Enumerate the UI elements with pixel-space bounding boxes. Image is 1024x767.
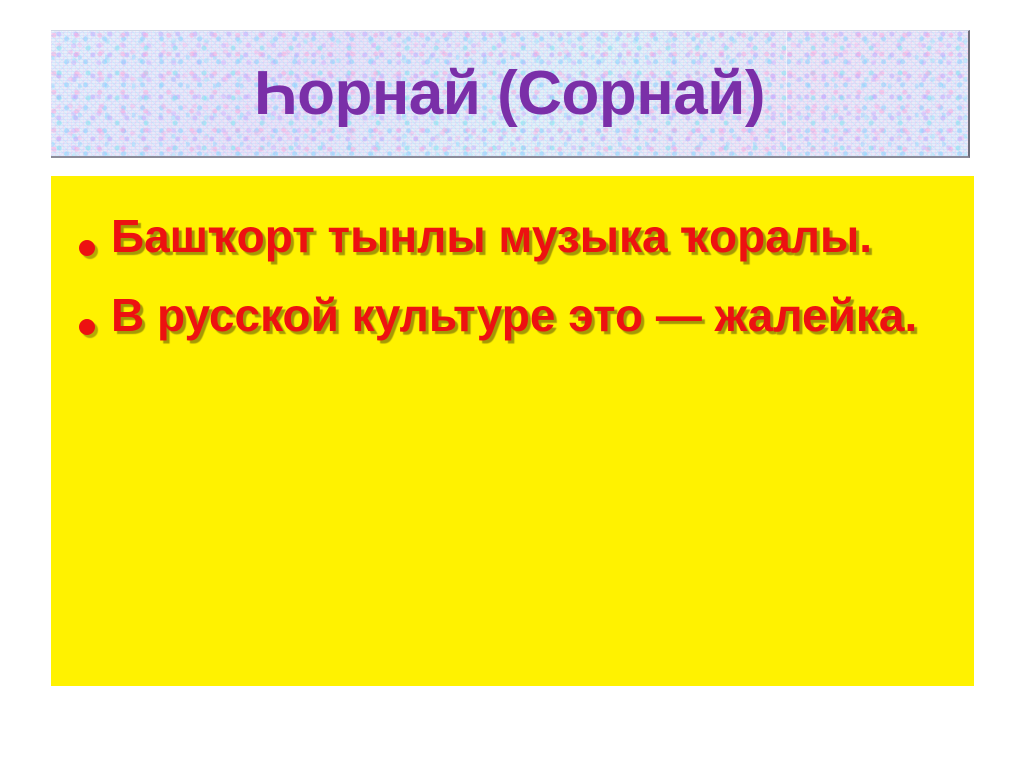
list-item: В русской культуре это — жалейка. xyxy=(65,289,931,342)
bullet-list: Башҡорт тынлы музыка ҡоралы. В русской к… xyxy=(65,210,964,343)
title-panel: Һорнай (Сорнай) xyxy=(51,30,970,158)
slide-canvas: Һорнай (Сорнай) Башҡорт тынлы музыка ҡор… xyxy=(0,0,1024,767)
page-title: Һорнай (Сорнай) xyxy=(254,63,765,125)
title-panel-divider xyxy=(786,31,787,156)
body-panel: Башҡорт тынлы музыка ҡоралы. В русской к… xyxy=(51,176,974,686)
list-item: Башҡорт тынлы музыка ҡоралы. xyxy=(65,210,931,263)
